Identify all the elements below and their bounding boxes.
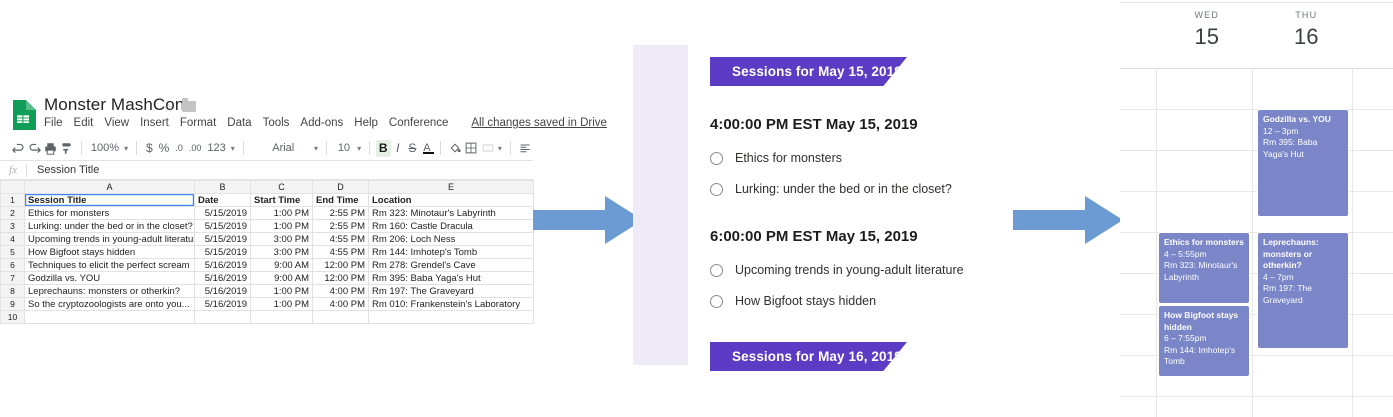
row-header[interactable]: 4	[1, 233, 25, 246]
form-option-label: How Bigfoot stays hidden	[735, 294, 876, 308]
cell[interactable]: Lurking: under the bed or in the closet?	[25, 220, 195, 233]
cell[interactable]: 9:00 AM	[251, 259, 313, 272]
font-size-select[interactable]: 10	[333, 142, 355, 154]
form-left-gutter	[633, 45, 688, 365]
strikethrough-button[interactable]: S	[405, 141, 420, 155]
radio-button-icon[interactable]	[710, 152, 723, 165]
column-header-e[interactable]: E	[369, 181, 534, 194]
cell[interactable]: Rm 144: Imhotep's Tomb	[369, 246, 534, 259]
table-row: 10	[1, 311, 534, 324]
cell[interactable]: Leprechauns: monsters or otherkin?	[25, 285, 195, 298]
table-row: 4 Upcoming trends in young-adult literat…	[1, 233, 534, 246]
italic-button[interactable]: I	[391, 141, 406, 155]
radio-button-icon[interactable]	[710, 183, 723, 196]
cell[interactable]: 4:00 PM	[313, 285, 369, 298]
cell[interactable]: 1:00 PM	[251, 285, 313, 298]
cell[interactable]: Rm 323: Minotaur's Labyrinth	[369, 207, 534, 220]
cell[interactable]: 5/16/2019	[195, 298, 251, 311]
spreadsheet-grid: A B C D E 1 Session Title Date Start Tim…	[0, 180, 533, 324]
form-time-heading-2: 6:00:00 PM EST May 15, 2019	[688, 228, 955, 245]
cell[interactable]: 9:00 AM	[251, 272, 313, 285]
font-size-chevron-down-icon[interactable]: ▾	[355, 144, 363, 153]
calendar-gridline	[1252, 68, 1253, 417]
cell[interactable]: 4:55 PM	[313, 233, 369, 246]
undo-icon[interactable]	[10, 138, 26, 158]
calendar-day-number: 15	[1157, 24, 1257, 50]
cell[interactable]	[251, 311, 313, 324]
calendar-dow-label: THU	[1257, 10, 1357, 20]
cell[interactable]: 1:00 PM	[251, 298, 313, 311]
cell[interactable]: Session Title	[25, 194, 195, 207]
font-family-select[interactable]: Arial	[250, 142, 312, 154]
column-header-b[interactable]: B	[195, 181, 251, 194]
cell[interactable]	[195, 311, 251, 324]
table-row: 2 Ethics for monsters 5/15/2019 1:00 PM …	[1, 207, 534, 220]
calendar-day-header-thu[interactable]: THU 16	[1257, 10, 1357, 62]
calendar-event-time: 6 – 7:55pm	[1164, 333, 1244, 345]
calendar-gridline	[1352, 68, 1353, 417]
cell[interactable]: 5/15/2019	[195, 220, 251, 233]
form-option-row[interactable]: Lurking: under the bed or in the closet?	[688, 182, 955, 196]
arrow-right-icon	[533, 196, 643, 244]
calendar-day-header-wed[interactable]: WED 15	[1157, 10, 1257, 62]
calendar-event-location: Rm 197: The Graveyard	[1263, 283, 1343, 306]
calendar-event-location: Rm 395: Baba Yaga's Hut	[1263, 137, 1343, 160]
cell[interactable]	[313, 311, 369, 324]
redo-icon[interactable]	[26, 138, 42, 158]
cell[interactable]: 4:55 PM	[313, 246, 369, 259]
menu-item-help[interactable]: Help	[354, 117, 378, 129]
google-sheets-icon	[10, 100, 36, 130]
cell[interactable]: 4:00 PM	[313, 298, 369, 311]
zoom-level[interactable]: 100%	[88, 142, 122, 154]
form-option-label: Lurking: under the bed or in the closet?	[735, 182, 952, 196]
menu-item-edit[interactable]: Edit	[74, 117, 94, 129]
cell[interactable]: Date	[195, 194, 251, 207]
column-header-d[interactable]: D	[313, 181, 369, 194]
column-header-row: A B C D E	[1, 181, 534, 194]
row-header[interactable]: 6	[1, 259, 25, 272]
google-form-panel: Sessions for May 15, 2019 4:00:00 PM EST…	[633, 45, 955, 365]
table-row: 5 How Bigfoot stays hidden 5/15/2019 3:0…	[1, 246, 534, 259]
radio-button-icon[interactable]	[710, 295, 723, 308]
cell[interactable]: 5/16/2019	[195, 259, 251, 272]
row-header[interactable]: 8	[1, 285, 25, 298]
print-icon[interactable]	[43, 138, 59, 158]
formula-bar: fx Session Title	[0, 161, 533, 180]
paint-format-icon[interactable]	[59, 138, 75, 158]
cell[interactable]: Rm 206: Loch Ness	[369, 233, 534, 246]
form-section-banner-may16: Sessions for May 16, 2019	[710, 342, 907, 371]
radio-button-icon[interactable]	[710, 264, 723, 277]
calendar-day-headers: WED 15 THU 16	[1120, 10, 1393, 62]
sheets-menubar: File Edit View Insert Format Data Tools …	[44, 117, 607, 129]
calendar-event-time: 4 – 7pm	[1263, 272, 1343, 284]
cell[interactable]: Rm 160: Castle Dracula	[369, 220, 534, 233]
calendar-day-number: 16	[1257, 24, 1357, 50]
form-time-heading-1: 4:00:00 PM EST May 15, 2019	[688, 116, 955, 133]
calendar-event-location: Rm 323: Minotaur's Labyrinth	[1164, 260, 1244, 283]
table-row: 7 Godzilla vs. YOU 5/16/2019 9:00 AM 12:…	[1, 272, 534, 285]
cell[interactable]: Godzilla vs. YOU	[25, 272, 195, 285]
table-row: 3 Lurking: under the bed or in the close…	[1, 220, 534, 233]
cell[interactable]: 1:00 PM	[251, 220, 313, 233]
banner-label: Sessions for May 16, 2019	[732, 349, 902, 364]
row-header[interactable]: 10	[1, 311, 25, 324]
cell[interactable]: Rm 395: Baba Yaga's Hut	[369, 272, 534, 285]
toolbar-divider	[510, 141, 511, 155]
cell[interactable]: 2:55 PM	[313, 207, 369, 220]
column-header-c[interactable]: C	[251, 181, 313, 194]
star-icon[interactable]: ☆	[163, 101, 174, 115]
form-section-banner-may15: Sessions for May 15, 2019	[710, 57, 907, 86]
toolbar-divider	[326, 141, 327, 155]
currency-format-button[interactable]: $	[143, 141, 156, 155]
cell[interactable]: So the cryptozoologists are onto you...	[25, 298, 195, 311]
cell[interactable]: 12:00 PM	[313, 272, 369, 285]
decrease-decimal-button[interactable]: .0	[172, 143, 186, 153]
cell[interactable]: 5/15/2019	[195, 233, 251, 246]
cell[interactable]: Location	[369, 194, 534, 207]
cell[interactable]: 3:00 PM	[251, 233, 313, 246]
calendar-event[interactable]: Leprechauns: monsters or otherkin? 4 – 7…	[1257, 232, 1349, 349]
sheets-titlebar: Monster MashCon ☆ File Edit View Insert …	[0, 92, 533, 138]
form-option-label: Upcoming trends in young-adult literatur…	[735, 263, 964, 277]
calendar-top-divider	[1120, 2, 1393, 3]
toolbar-divider	[369, 141, 370, 155]
calendar-event-title: Ethics for monsters	[1164, 237, 1244, 249]
menu-item-conference[interactable]: Conference	[389, 117, 448, 129]
cell[interactable]: 3:00 PM	[251, 246, 313, 259]
calendar-time-grid: Godzilla vs. YOU 12 – 3pm Rm 395: Baba Y…	[1120, 68, 1393, 417]
cell[interactable]: 5/15/2019	[195, 207, 251, 220]
table-row: 1 Session Title Date Start Time End Time…	[1, 194, 534, 207]
calendar-event[interactable]: Ethics for monsters 4 – 5:55pm Rm 323: M…	[1158, 232, 1250, 304]
calendar-event[interactable]: How Bigfoot stays hidden 6 – 7:55pm Rm 1…	[1158, 305, 1250, 377]
form-option-row[interactable]: Upcoming trends in young-adult literatur…	[688, 263, 955, 277]
table-row: 6 Techniques to elicit the perfect screa…	[1, 259, 534, 272]
formula-bar-input[interactable]: Session Title	[27, 164, 99, 176]
cell[interactable]: 1:00 PM	[251, 207, 313, 220]
toolbar-divider	[136, 141, 137, 155]
form-option-row[interactable]: Ethics for monsters	[688, 151, 955, 165]
folder-icon[interactable]	[182, 101, 196, 112]
banner-label: Sessions for May 15, 2019	[732, 64, 902, 79]
calendar-event-title: Godzilla vs. YOU	[1263, 114, 1343, 126]
borders-icon[interactable]	[463, 138, 479, 158]
cell[interactable]: 12:00 PM	[313, 259, 369, 272]
cell[interactable]	[369, 311, 534, 324]
row-header[interactable]: 9	[1, 298, 25, 311]
fill-color-icon[interactable]	[447, 138, 463, 158]
save-status-link[interactable]: All changes saved in Drive	[471, 117, 607, 129]
select-all-corner[interactable]	[1, 181, 25, 194]
cell[interactable]: Upcoming trends in young-adult literatur…	[25, 233, 195, 246]
cell[interactable]: Rm 278: Grendel's Cave	[369, 259, 534, 272]
sheets-toolbar: 100% ▾ $ % .0 .00 123 ▾ Arial ▾ 10 ▾ B I…	[0, 136, 533, 161]
increase-decimal-button[interactable]: .00	[186, 143, 205, 153]
toolbar-divider	[440, 141, 441, 155]
cell[interactable]: Techniques to elicit the perfect scream	[25, 259, 195, 272]
arrow-right-icon	[1013, 196, 1123, 244]
row-header[interactable]: 5	[1, 246, 25, 259]
google-calendar-panel: WED 15 THU 16 Godzilla vs. YOU	[1120, 0, 1393, 417]
percent-format-button[interactable]: %	[156, 141, 173, 155]
number-format-button[interactable]: 123	[204, 142, 228, 154]
row-header[interactable]: 3	[1, 220, 25, 233]
menu-item-file[interactable]: File	[44, 117, 63, 129]
google-sheets-panel: Monster MashCon ☆ File Edit View Insert …	[0, 92, 533, 318]
toolbar-divider	[81, 141, 82, 155]
column-header-a[interactable]: A	[25, 181, 195, 194]
cell[interactable]: Rm 010: Frankenstein's Laboratory	[369, 298, 534, 311]
row-header[interactable]: 7	[1, 272, 25, 285]
bold-button[interactable]: B	[376, 140, 391, 157]
toolbar-divider	[243, 141, 244, 155]
calendar-event-time: 12 – 3pm	[1263, 126, 1343, 138]
font-chevron-down-icon[interactable]: ▾	[312, 144, 320, 153]
cell[interactable]: 5/15/2019	[195, 246, 251, 259]
cell[interactable]: 5/16/2019	[195, 285, 251, 298]
calendar-event-location: Rm 144: Imhotep's Tomb	[1164, 345, 1244, 368]
menu-item-insert[interactable]: Insert	[140, 117, 169, 129]
calendar-gridline	[1156, 68, 1157, 417]
calendar-event-title: Leprechauns: monsters or otherkin?	[1263, 237, 1343, 272]
form-body: Sessions for May 15, 2019 4:00:00 PM EST…	[688, 45, 955, 365]
menu-item-data[interactable]: Data	[227, 117, 251, 129]
form-option-row[interactable]: How Bigfoot stays hidden	[688, 294, 955, 308]
text-color-button[interactable]: A	[420, 142, 435, 154]
number-format-chevron-down-icon[interactable]: ▾	[229, 144, 237, 153]
calendar-event[interactable]: Godzilla vs. YOU 12 – 3pm Rm 395: Baba Y…	[1257, 109, 1349, 217]
align-icon[interactable]	[517, 138, 533, 158]
cell[interactable]: Rm 197: The Graveyard	[369, 285, 534, 298]
row-header[interactable]: 1	[1, 194, 25, 207]
cell[interactable]: How Bigfoot stays hidden	[25, 246, 195, 259]
table-row: 9 So the cryptozoologists are onto you..…	[1, 298, 534, 311]
menu-item-addons[interactable]: Add-ons	[300, 117, 343, 129]
row-header[interactable]: 2	[1, 207, 25, 220]
cell[interactable]: 5/16/2019	[195, 272, 251, 285]
table-row: 8 Leprechauns: monsters or otherkin? 5/1…	[1, 285, 534, 298]
calendar-event-time: 4 – 5:55pm	[1164, 249, 1244, 261]
menu-item-tools[interactable]: Tools	[263, 117, 290, 129]
calendar-event-title: How Bigfoot stays hidden	[1164, 310, 1244, 333]
merge-cells-icon[interactable]	[480, 138, 496, 158]
cell[interactable]: Start Time	[251, 194, 313, 207]
zoom-chevron-down-icon[interactable]: ▾	[122, 144, 130, 153]
merge-chevron-down-icon[interactable]: ▾	[496, 144, 504, 153]
menu-item-format[interactable]: Format	[180, 117, 216, 129]
menu-item-view[interactable]: View	[104, 117, 129, 129]
cell[interactable]	[25, 311, 195, 324]
form-option-label: Ethics for monsters	[735, 151, 842, 165]
cell[interactable]: End Time	[313, 194, 369, 207]
cell[interactable]: Ethics for monsters	[25, 207, 195, 220]
calendar-dow-label: WED	[1157, 10, 1257, 20]
fx-icon: fx	[0, 164, 26, 176]
workflow-diagram: Monster MashCon ☆ File Edit View Insert …	[0, 0, 1393, 417]
cell[interactable]: 2:55 PM	[313, 220, 369, 233]
